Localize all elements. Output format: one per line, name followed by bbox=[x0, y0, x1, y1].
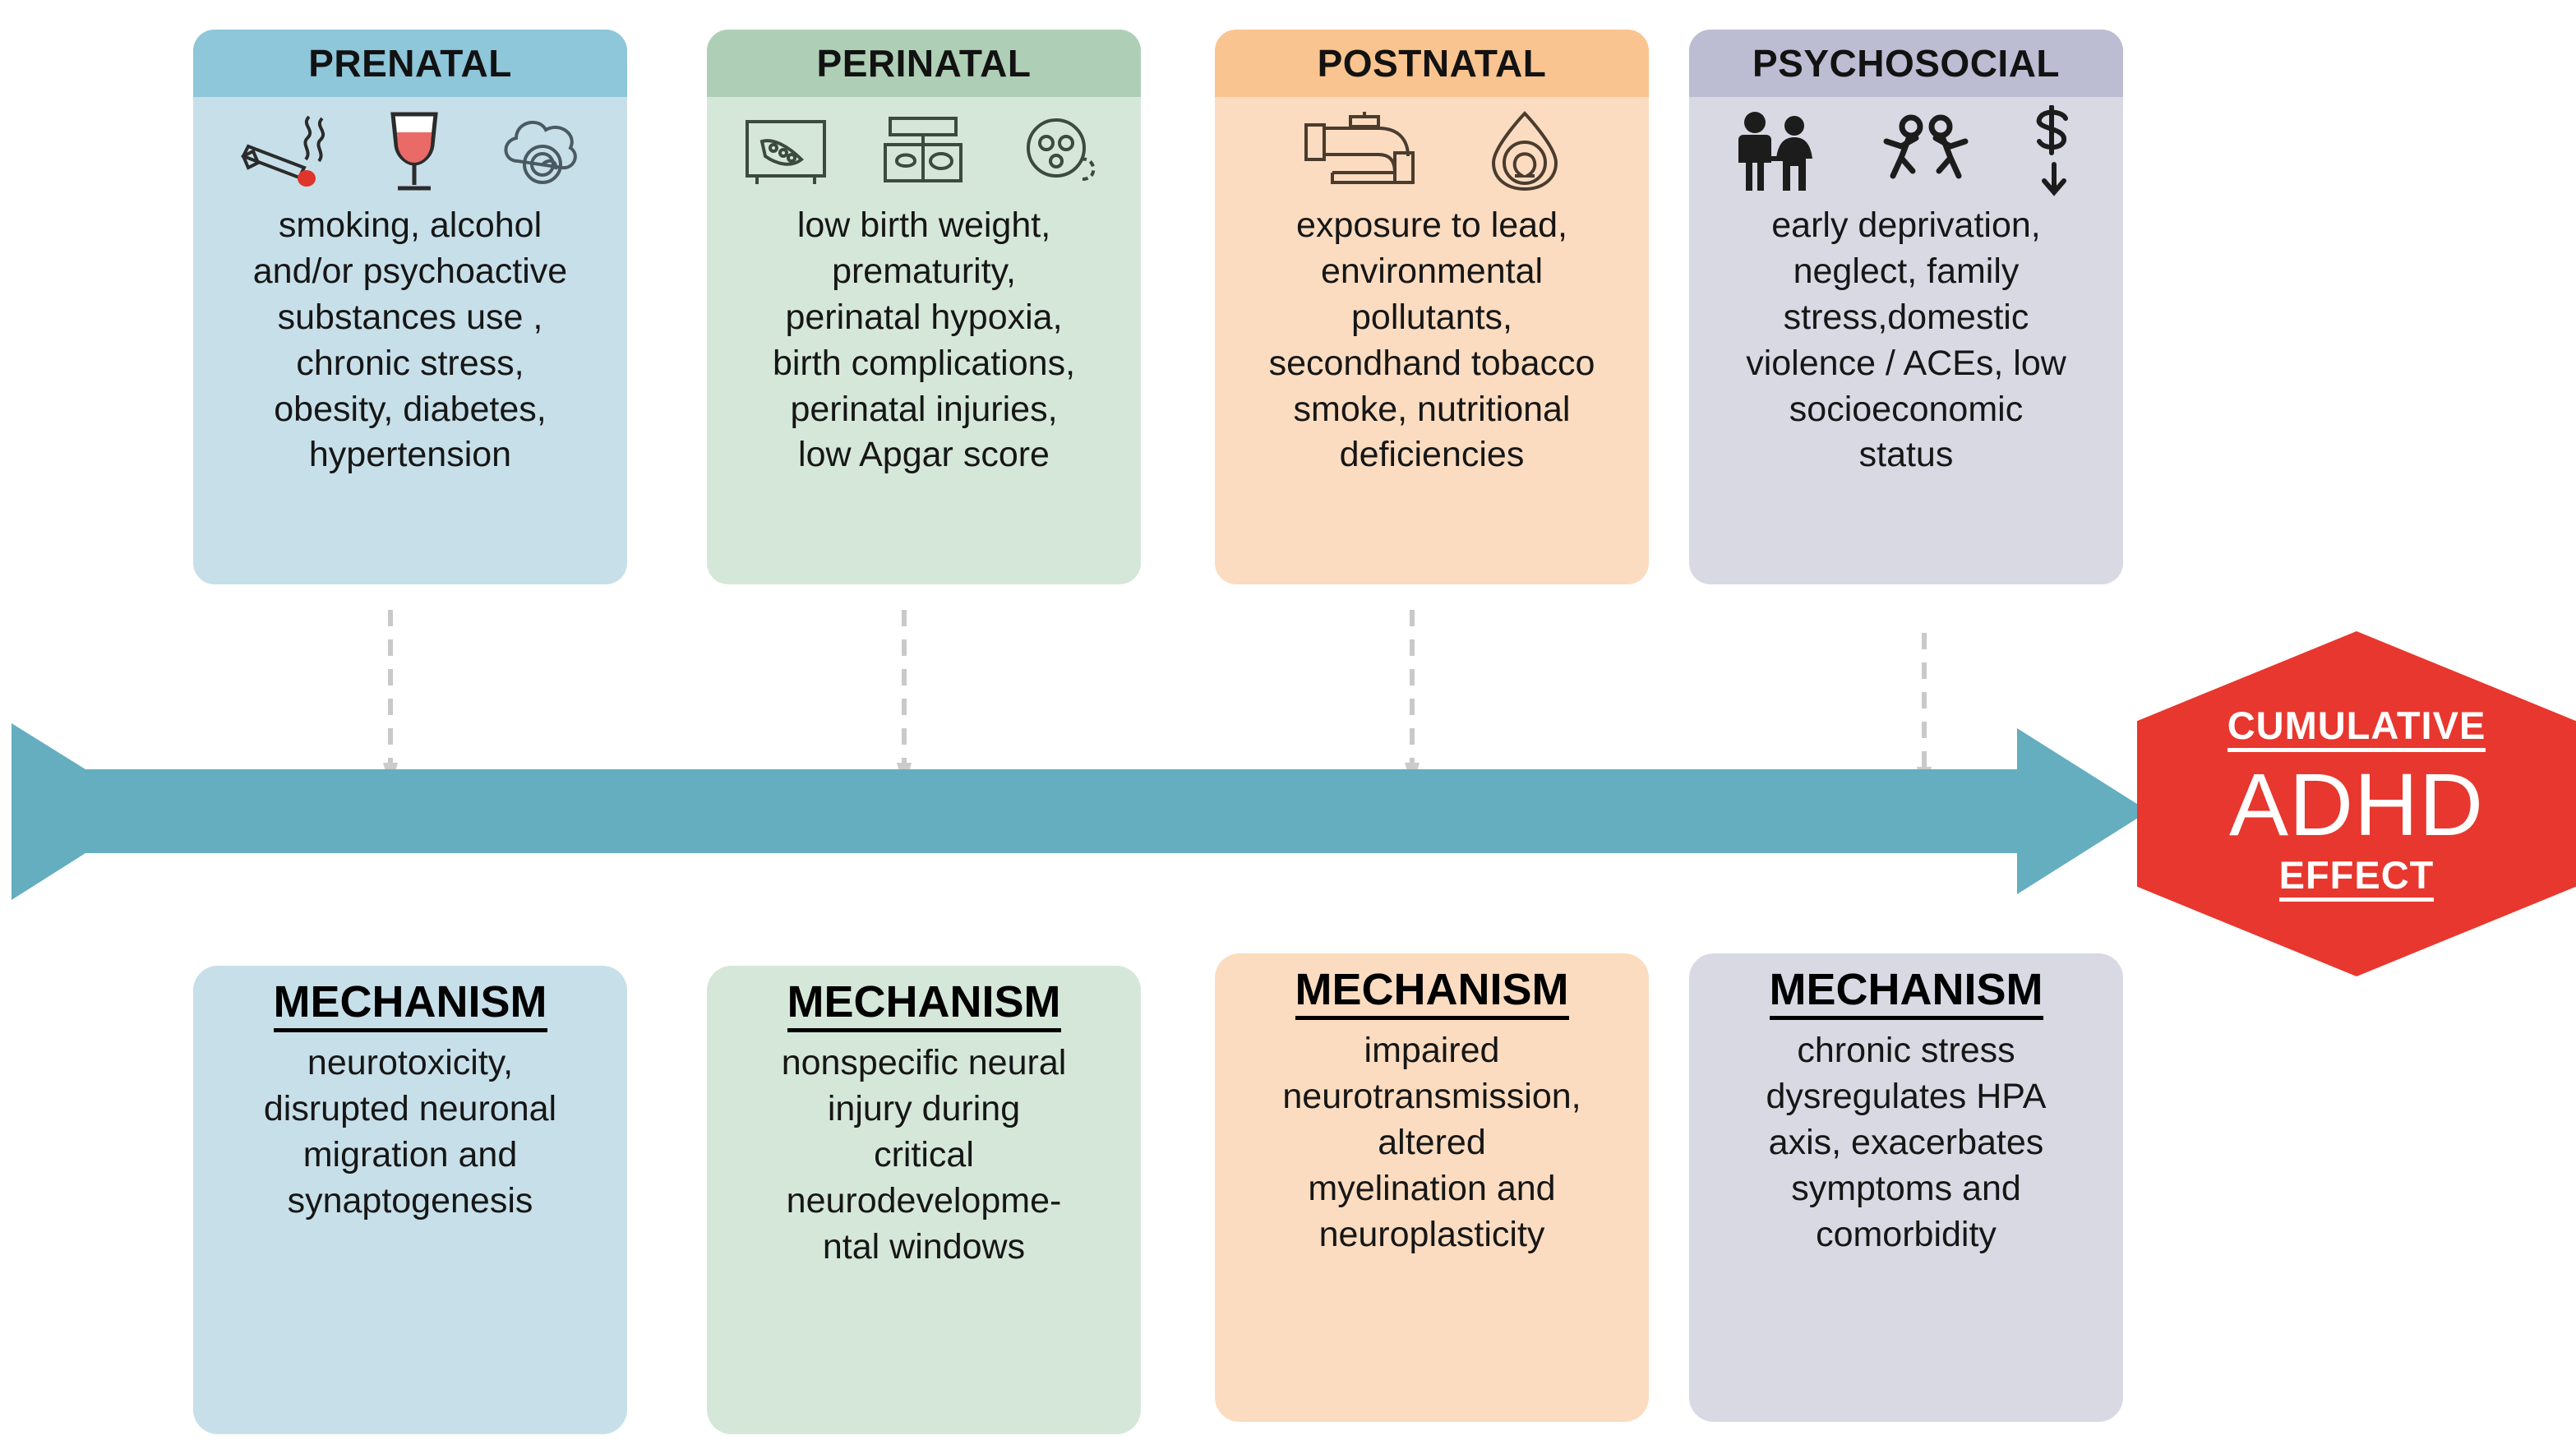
cumulative-adhd-effect-badge[interactable]: CUMULATIVE ADHD EFFECT bbox=[2137, 631, 2576, 976]
risk-card-text: early deprivation, neglect, family stres… bbox=[1689, 200, 2123, 584]
risk-card-title: PSYCHOSOCIAL bbox=[1689, 30, 2123, 97]
risk-card-psychosocial[interactable]: PSYCHOSOCIAL bbox=[1689, 30, 2123, 584]
risk-card-postnatal[interactable]: POSTNATAL bbox=[1215, 30, 1649, 584]
risk-card-text: smoking, alcohol and/or psychoactive sub… bbox=[193, 200, 627, 584]
mechanism-card-postnatal[interactable]: MECHANISM impaired neurotransmission, al… bbox=[1215, 953, 1649, 1422]
mechanism-card-prenatal[interactable]: MECHANISM neurotoxicity, disrupted neuro… bbox=[193, 966, 627, 1434]
mechanism-text: nonspecific neural injury during critica… bbox=[777, 1041, 1072, 1270]
mechanism-text: impaired neurotransmission, altered myel… bbox=[1277, 1028, 1586, 1257]
newborn-head-icon bbox=[1015, 113, 1107, 189]
mechanism-card-perinatal[interactable]: MECHANISM nonspecific neural injury duri… bbox=[707, 966, 1141, 1434]
hexagon-label-group: CUMULATIVE ADHD EFFECT bbox=[2137, 631, 2576, 976]
outcome-line-adhd: ADHD bbox=[2229, 755, 2484, 855]
risk-card-prenatal[interactable]: PRENATAL bbox=[193, 30, 627, 584]
outcome-line-effect: EFFECT bbox=[2279, 856, 2435, 902]
risk-card-icon-row bbox=[193, 97, 627, 200]
risk-card-perinatal[interactable]: PERINATAL bbox=[707, 30, 1141, 584]
risk-card-text: exposure to lead, environmental pollutan… bbox=[1215, 200, 1649, 584]
water-drop-omega-icon bbox=[1485, 108, 1564, 194]
mechanism-text: chronic stress dysregulates HPA axis, ex… bbox=[1761, 1028, 2052, 1257]
cigarette-icon bbox=[235, 110, 334, 192]
incubator-icon bbox=[741, 113, 831, 189]
baby-scale-icon bbox=[877, 113, 969, 189]
risk-card-icon-row bbox=[1689, 97, 2123, 200]
mechanism-text: neurotoxicity, disrupted neuronal migrat… bbox=[259, 1041, 561, 1225]
couple-icon bbox=[1729, 110, 1827, 192]
psychoactive-cloud-icon bbox=[495, 110, 585, 192]
risk-card-text: low birth weight, prematurity, perinatal… bbox=[707, 200, 1141, 584]
mechanism-card-psychosocial[interactable]: MECHANISM chronic stress dysregulates HP… bbox=[1689, 953, 2123, 1422]
risk-card-icon-row bbox=[1215, 97, 1649, 200]
wine-glass-icon bbox=[380, 108, 449, 195]
outcome-line-cumulative: CUMULATIVE bbox=[2227, 706, 2486, 752]
risk-card-icon-row bbox=[707, 97, 1141, 200]
timeline-arrow bbox=[12, 723, 2149, 900]
mechanism-title: MECHANISM bbox=[787, 977, 1061, 1032]
diagram-canvas: PRENATAL bbox=[0, 0, 2576, 1449]
risk-card-title: POSTNATAL bbox=[1215, 30, 1649, 97]
conflict-figures-icon bbox=[1873, 110, 1978, 192]
faucet-icon bbox=[1300, 110, 1439, 192]
mechanism-title: MECHANISM bbox=[274, 977, 547, 1032]
mechanism-title: MECHANISM bbox=[1295, 965, 1569, 1020]
mechanism-title: MECHANISM bbox=[1770, 965, 2043, 1020]
dollar-down-arrow-icon bbox=[2024, 105, 2084, 197]
risk-card-title: PRENATAL bbox=[193, 30, 627, 97]
risk-card-title: PERINATAL bbox=[707, 30, 1141, 97]
